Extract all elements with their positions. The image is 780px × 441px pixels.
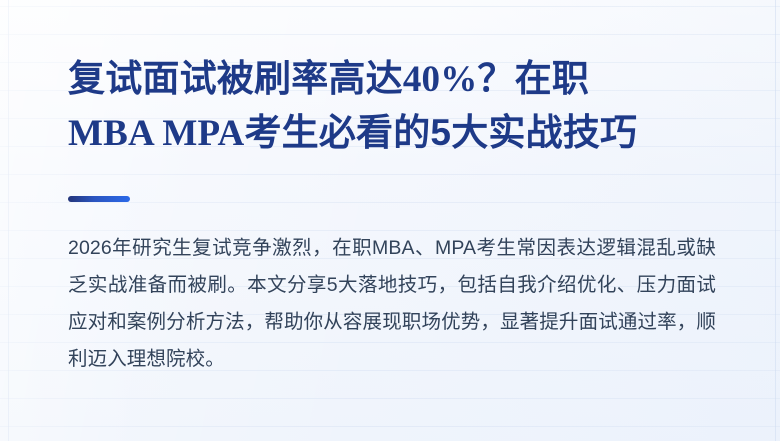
article-card: 复试面试被刷率高达40%？在职 MBA MPA考生必看的5大实战技巧 2026年… [0,0,780,441]
headline-segment-line2-suffix: 考生必看的5大实战技巧 [244,112,637,153]
headline-segment-prefix: 复试面试被刷率高达 [68,58,403,99]
background-vertical-rule-right [775,0,776,441]
headline-latin-mba-mpa: MBA MPA [68,113,244,154]
headline-metric-40-percent: 40% [403,59,478,100]
article-summary: 2026年研究生复试竞争激烈，在职MBA、MPA考生常因表达逻辑混乱或缺乏实战准… [68,230,716,378]
card-content: 复试面试被刷率高达40%？在职 MBA MPA考生必看的5大实战技巧 2026年… [68,0,728,441]
accent-divider-bar [68,196,130,202]
background-vertical-rule-left [8,0,9,441]
headline-segment-suffix: ？在职 [477,58,589,99]
page-title: 复试面试被刷率高达40%？在职 MBA MPA考生必看的5大实战技巧 [68,52,716,160]
